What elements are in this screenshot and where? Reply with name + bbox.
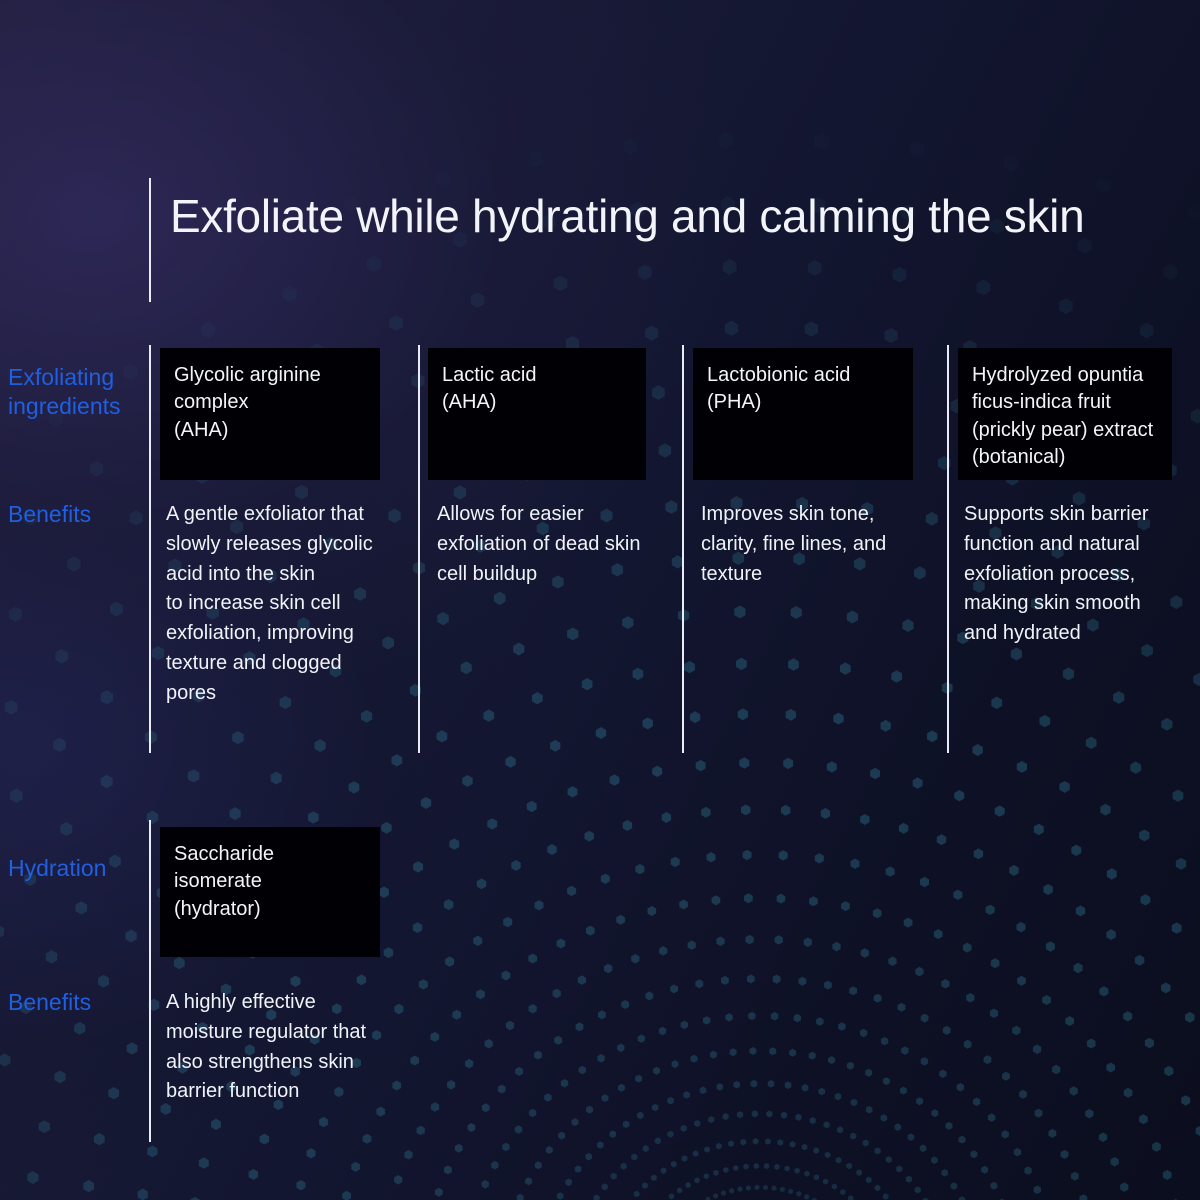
column-rule-1 xyxy=(149,345,151,753)
section-hydration: Hydration Benefits Saccharide isomerate … xyxy=(0,820,1200,1145)
ingredient-card-4: Hydrolyzed opuntia ficus-indica fruit (p… xyxy=(958,348,1172,480)
benefit-text-3: Improves skin tone, clarity, fine lines,… xyxy=(701,500,933,589)
column-rule-2 xyxy=(418,345,420,753)
hydration-benefit-text: A highly effective moisture regulator th… xyxy=(166,988,406,1107)
ingredient-card-3: Lactobionic acid (PHA) xyxy=(693,348,913,480)
benefit-text-4: Supports skin barrier function and natur… xyxy=(964,500,1196,649)
page-title: Exfoliate while hydrating and calming th… xyxy=(170,188,1200,244)
title-vertical-rule xyxy=(149,178,151,302)
column-rule-4 xyxy=(947,345,949,753)
ingredient-card-1: Glycolic arginine complex (AHA) xyxy=(160,348,380,480)
row-label-hydration: Hydration xyxy=(8,854,143,883)
column-rule-hydration xyxy=(149,820,151,1142)
row-label-exfoliating-ingredients: Exfoliating ingredients xyxy=(8,363,143,421)
row-label-benefits-exfoliating: Benefits xyxy=(8,500,143,529)
ingredient-card-2: Lactic acid (AHA) xyxy=(428,348,646,480)
column-rule-3 xyxy=(682,345,684,753)
section-exfoliating-ingredients: Exfoliating ingredients Benefits Glycoli… xyxy=(0,345,1200,755)
row-label-benefits-hydration: Benefits xyxy=(8,988,143,1017)
slide-canvas: Exfoliate while hydrating and calming th… xyxy=(0,0,1200,1200)
title-block: Exfoliate while hydrating and calming th… xyxy=(0,178,1200,302)
hydration-ingredient-card: Saccharide isomerate (hydrator) xyxy=(160,827,380,957)
benefit-text-1: A gentle exfoliator that slowly releases… xyxy=(166,500,398,709)
benefit-text-2: Allows for easier exfoliation of dead sk… xyxy=(437,500,669,589)
